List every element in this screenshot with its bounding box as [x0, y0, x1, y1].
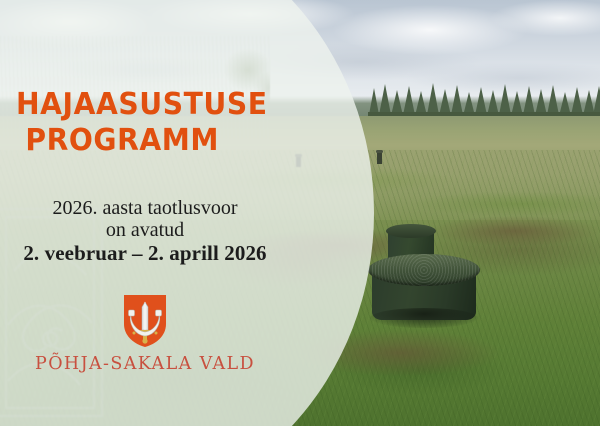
content-panel: HAJAASUSTUSE PROGRAMM 2026. aasta taotlu… — [0, 0, 290, 426]
application-date-range: 2. veebruar – 2. aprill 2026 — [0, 242, 290, 266]
septic-tank-large-shadow — [370, 308, 478, 328]
septic-tank-small-lid — [386, 224, 436, 238]
vent-pipe — [377, 152, 382, 164]
municipality-logo: PÕHJA-SAKALA VALD — [0, 294, 290, 374]
headline-line-2: PROGRAMM — [16, 126, 228, 156]
headline-line-1: HAJAASUSTUSE — [16, 90, 259, 120]
spruce-treeline-icon — [368, 82, 600, 120]
septic-tank-large-lid — [368, 254, 480, 286]
poster-root: HAJAASUSTUSE PROGRAMM 2026. aasta taotlu… — [0, 0, 600, 426]
subtitle-line-2: on avatud — [0, 219, 290, 241]
municipality-name-label: PÕHJA-SAKALA VALD — [0, 354, 290, 374]
coat-of-arms-shield-icon — [122, 294, 168, 348]
subtitle-line-1: 2026. aasta taotlusvoor — [0, 197, 290, 219]
